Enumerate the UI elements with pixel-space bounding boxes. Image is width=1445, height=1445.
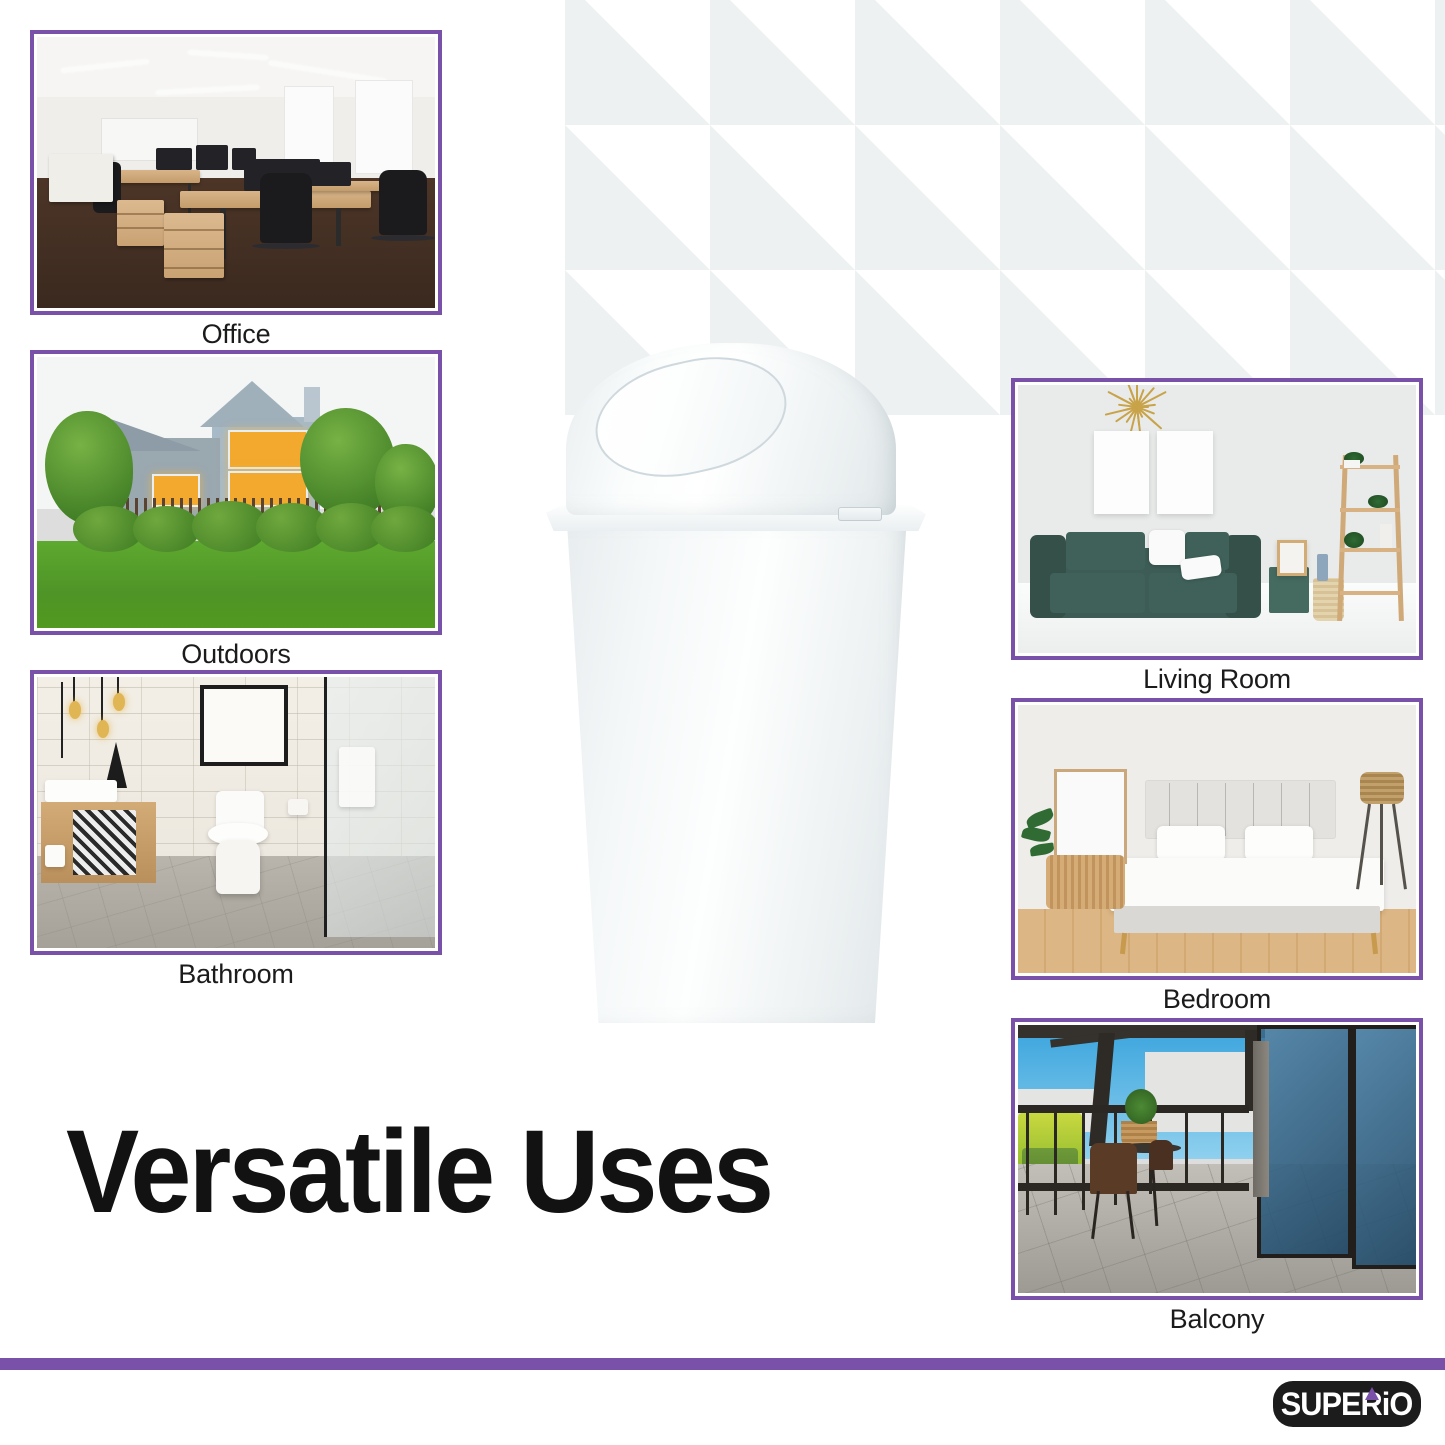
logo-triangle-accent xyxy=(1365,1387,1379,1400)
marketing-infographic: Office Outdoors xyxy=(0,0,1445,1445)
photo-living-room xyxy=(1018,385,1416,653)
scene-frame-outdoors xyxy=(30,350,442,635)
footer-divider xyxy=(0,1358,1445,1370)
caption-office: Office xyxy=(30,319,442,350)
caption-living-room: Living Room xyxy=(1011,664,1423,695)
brand-logo-text: SUPERiO xyxy=(1281,1386,1413,1423)
caption-bathroom: Bathroom xyxy=(30,959,442,990)
scene-frame-bedroom xyxy=(1011,698,1423,980)
photo-outdoors xyxy=(37,357,435,628)
bin-lid-tab[interactable] xyxy=(838,507,882,521)
bin-body xyxy=(560,523,910,1023)
photo-balcony xyxy=(1018,1025,1416,1293)
page-title: Versatile Uses xyxy=(66,1113,771,1231)
scene-frame-balcony xyxy=(1011,1018,1423,1300)
caption-bedroom: Bedroom xyxy=(1011,984,1423,1015)
caption-balcony: Balcony xyxy=(1011,1304,1423,1335)
caption-outdoors: Outdoors xyxy=(30,639,442,670)
photo-bathroom xyxy=(37,677,435,948)
photo-bedroom xyxy=(1018,705,1416,973)
photo-office xyxy=(37,37,435,308)
scene-frame-office xyxy=(30,30,442,315)
scene-frame-bathroom xyxy=(30,670,442,955)
product-trash-can xyxy=(498,333,958,1033)
brand-logo: SUPERiO xyxy=(1273,1381,1421,1427)
scene-frame-living-room xyxy=(1011,378,1423,660)
